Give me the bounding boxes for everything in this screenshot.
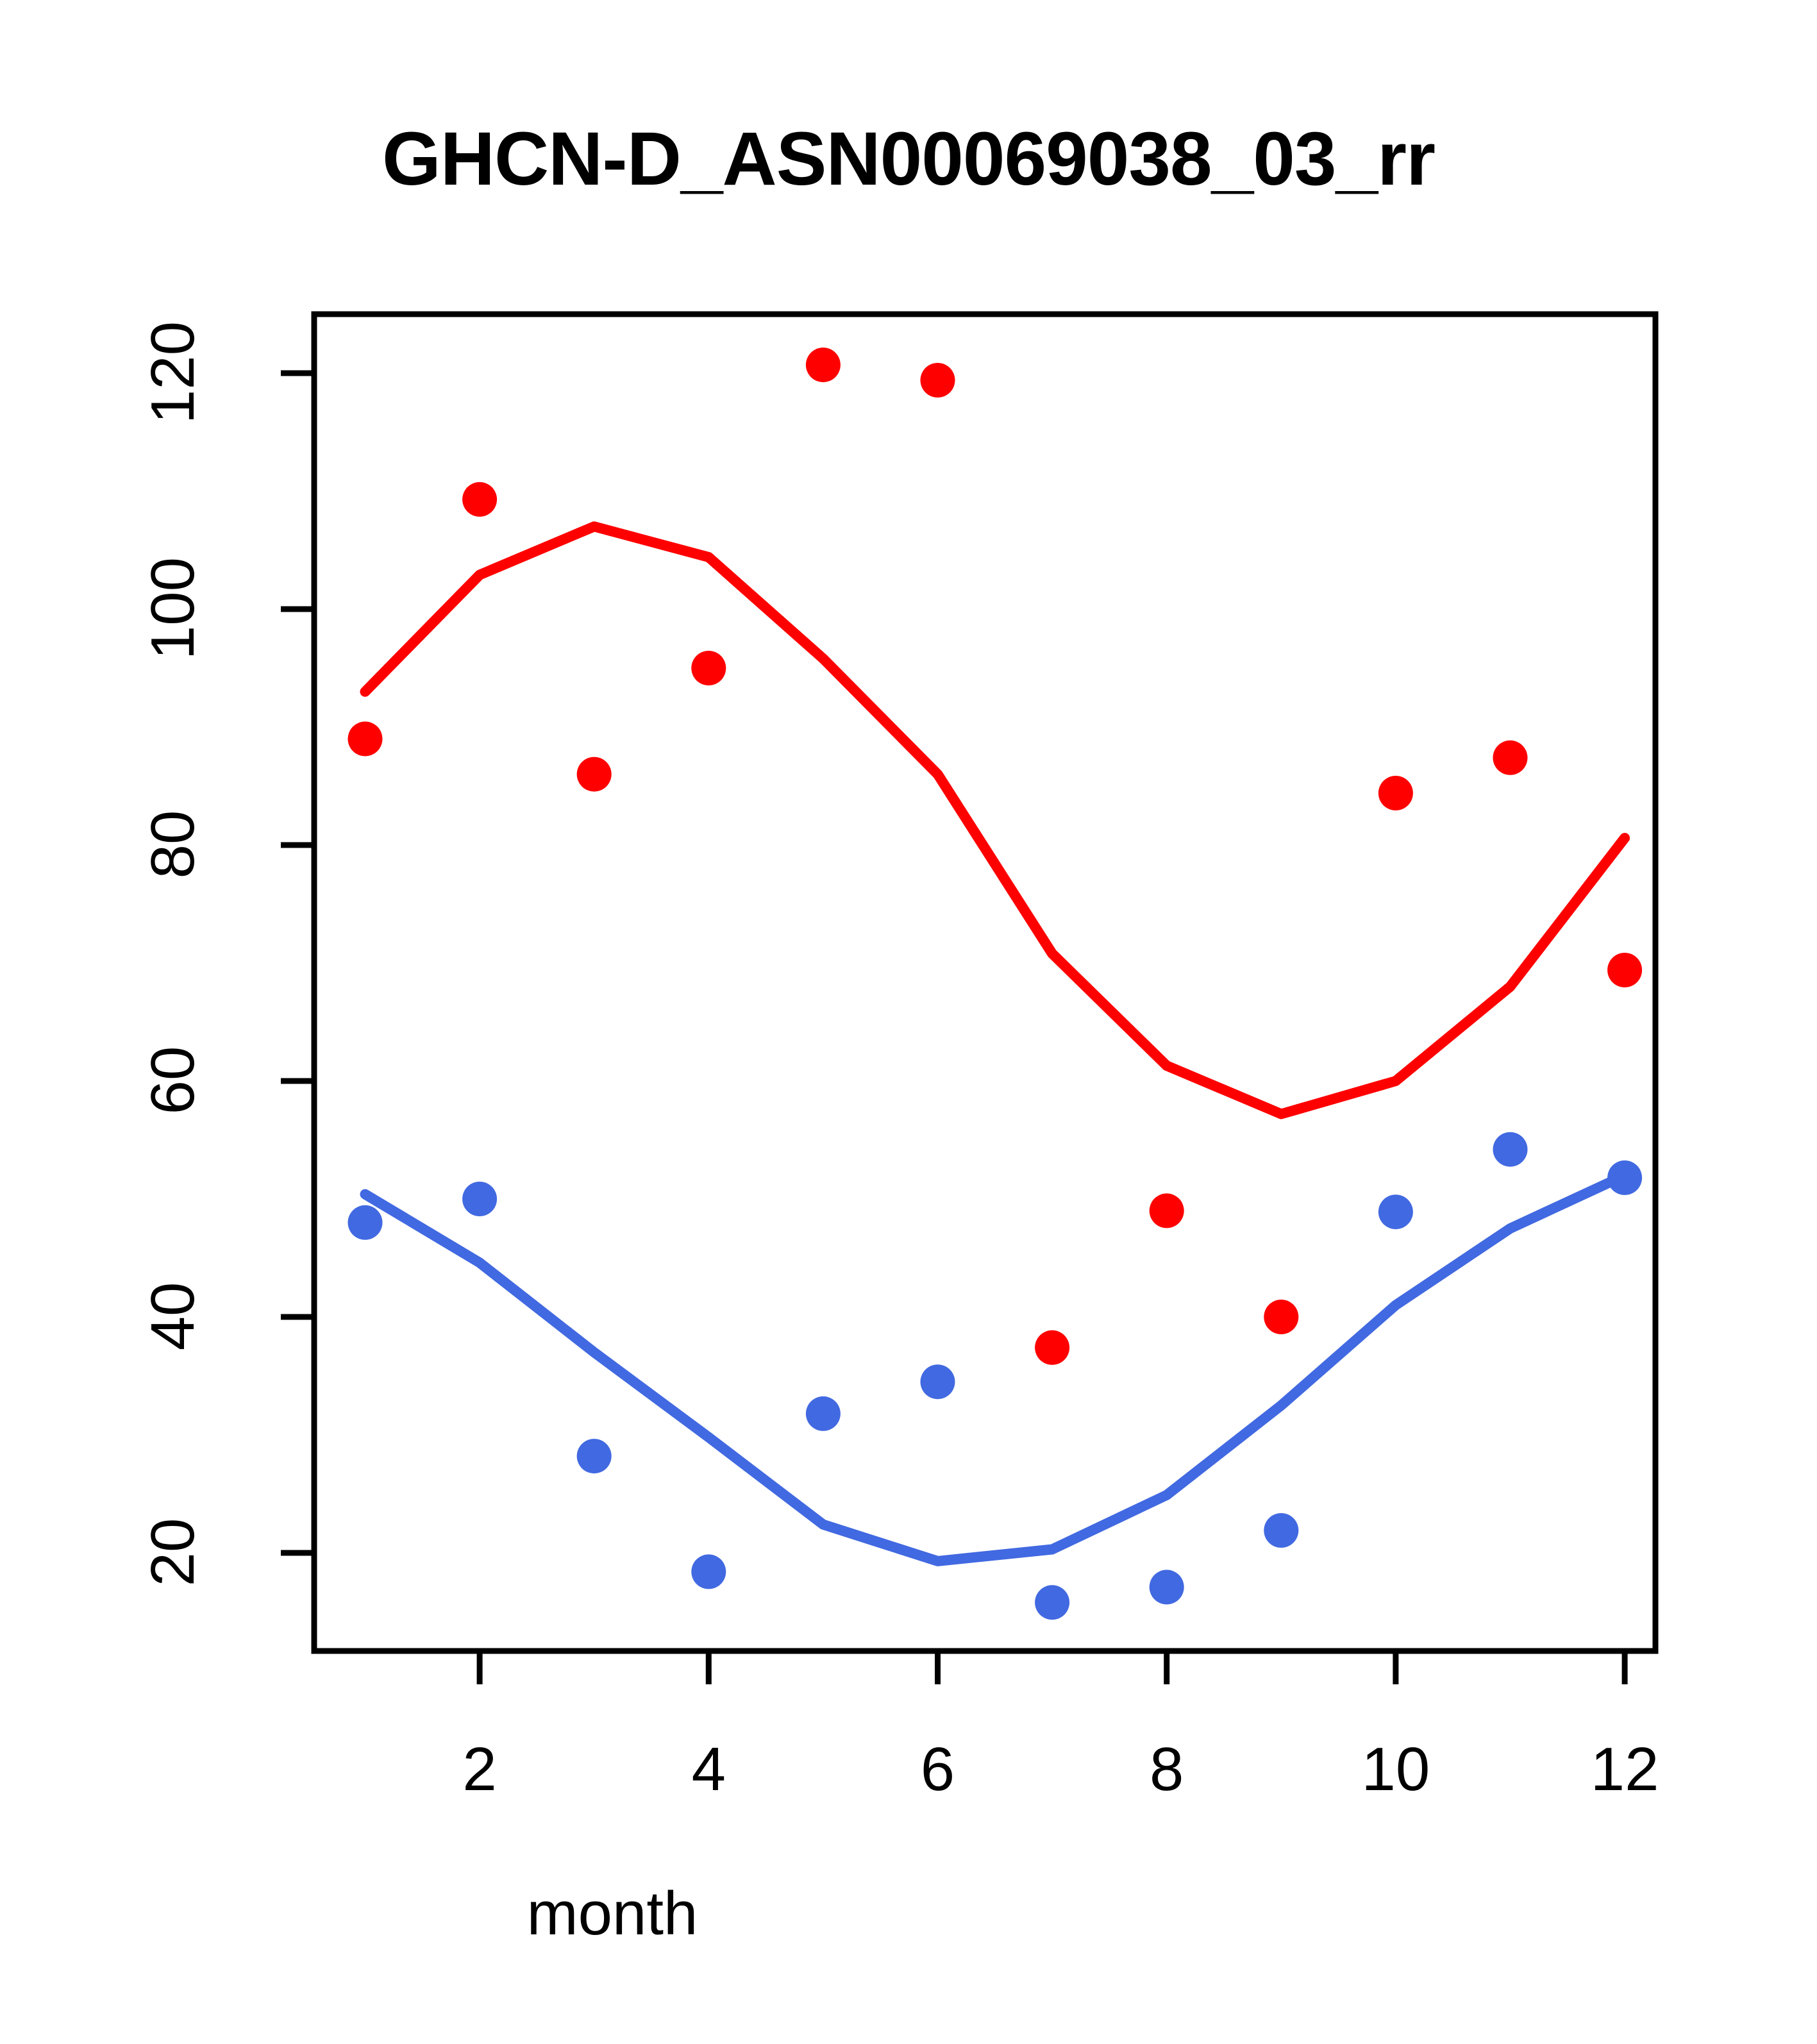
x-axis-tick-label: 10	[1312, 1734, 1479, 1805]
data-point	[1035, 1585, 1069, 1620]
data-point	[921, 1364, 955, 1399]
data-point	[577, 1439, 612, 1473]
chart-page: GHCN-D_ASN00069038_03_rr 20406080100120 …	[0, 0, 1817, 2044]
data-point	[1378, 776, 1413, 810]
data-point	[1264, 1513, 1298, 1548]
series-layer	[348, 348, 1643, 1620]
data-point	[462, 1182, 497, 1216]
x-axis-tick-label: 2	[396, 1734, 563, 1805]
data-point	[348, 1205, 383, 1240]
data-point	[1035, 1330, 1069, 1365]
series-line-blue-line	[365, 1175, 1625, 1561]
data-point	[1378, 1194, 1413, 1229]
series-line-red-line	[365, 526, 1625, 1114]
data-point	[1607, 953, 1642, 987]
data-point	[691, 651, 726, 685]
y-axis-tick-label: 80	[138, 774, 208, 915]
data-point	[921, 363, 955, 398]
data-point	[806, 348, 841, 382]
y-axis-tick-label: 20	[138, 1482, 208, 1623]
data-point	[462, 482, 497, 517]
y-axis-tick-label: 120	[138, 302, 208, 443]
x-axis-ticks	[480, 1651, 1625, 1684]
data-point	[691, 1554, 726, 1589]
x-axis-tick-label: 8	[1084, 1734, 1250, 1805]
y-axis-ticks	[281, 373, 314, 1553]
data-point	[348, 721, 383, 756]
data-point	[1493, 1132, 1528, 1167]
x-axis-tick-label: 4	[625, 1734, 792, 1805]
data-point	[1493, 741, 1528, 775]
data-point	[806, 1396, 841, 1431]
y-axis-tick-label: 60	[138, 1010, 208, 1151]
x-axis-title: month	[0, 1879, 1225, 1949]
data-point	[577, 757, 612, 792]
data-point	[1264, 1300, 1298, 1334]
x-axis-tick-label: 6	[855, 1734, 1021, 1805]
y-axis-tick-label: 100	[138, 538, 208, 679]
x-axis-tick-label: 12	[1541, 1734, 1708, 1805]
y-axis-tick-label: 40	[138, 1246, 208, 1387]
plot-frame	[314, 314, 1655, 1651]
data-point	[1150, 1193, 1184, 1228]
data-point	[1150, 1570, 1184, 1604]
